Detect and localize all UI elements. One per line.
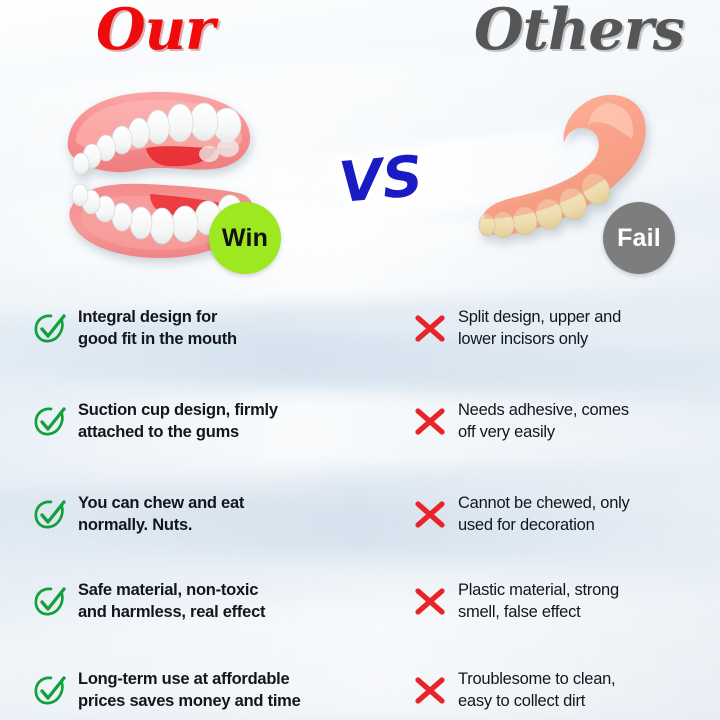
vs-icon: VS VS [336,136,436,222]
check-circle-icon [33,405,67,439]
comparison-row: Safe material, non-toxic and harmless, r… [0,558,720,645]
check-circle-icon [33,312,67,346]
pro-text: Integral design for good fit in the mout… [78,307,237,350]
cross-icon [413,585,447,619]
con-text: Cannot be chewed, only used for decorati… [458,493,630,536]
pro-text: You can chew and eat normally. Nuts. [78,493,244,536]
pro-cell: Suction cup design, firmly attached to t… [0,378,400,465]
comparison-row: Integral design for good fit in the mout… [0,285,720,372]
pro-text: Safe material, non-toxic and harmless, r… [78,580,265,623]
pro-cell: Long-term use at affordable prices saves… [0,647,400,720]
cross-icon [413,405,447,439]
cross-icon [413,498,447,532]
comparison-row: You can chew and eat normally. Nuts. Can… [0,471,720,558]
check-circle-icon [33,585,67,619]
header-our: Our [96,0,214,63]
pro-cell: Integral design for good fit in the mout… [0,285,400,372]
con-cell: Cannot be chewed, only used for decorati… [400,471,720,558]
con-cell: Troublesome to clean, easy to collect di… [400,647,720,720]
con-text: Needs adhesive, comes off very easily [458,400,629,443]
con-text: Split design, upper and lower incisors o… [458,307,621,350]
pro-cell: You can chew and eat normally. Nuts. [0,471,400,558]
upper-denture-arch [68,92,250,175]
check-circle-icon [33,674,67,708]
badge-win: Win [209,202,281,274]
con-text: Troublesome to clean, easy to collect di… [458,669,615,712]
con-cell: Needs adhesive, comes off very easily [400,378,720,465]
pro-text: Suction cup design, firmly attached to t… [78,400,278,443]
header-others: Others [474,0,684,63]
cross-icon [413,674,447,708]
comparison-row: Suction cup design, firmly attached to t… [0,378,720,465]
comparison-row: Long-term use at affordable prices saves… [0,647,720,720]
con-cell: Plastic material, strong smell, false ef… [400,558,720,645]
con-cell: Split design, upper and lower incisors o… [400,285,720,372]
con-text: Plastic material, strong smell, false ef… [458,580,619,623]
pro-cell: Safe material, non-toxic and harmless, r… [0,558,400,645]
comparison-rows: Integral design for good fit in the mout… [0,285,720,720]
vs-fill: VS [336,144,425,216]
badge-fail: Fail [603,202,675,274]
check-circle-icon [33,498,67,532]
pro-text: Long-term use at affordable prices saves… [78,669,301,712]
comparison-infographic: Our Others [0,0,720,720]
cross-icon [413,312,447,346]
